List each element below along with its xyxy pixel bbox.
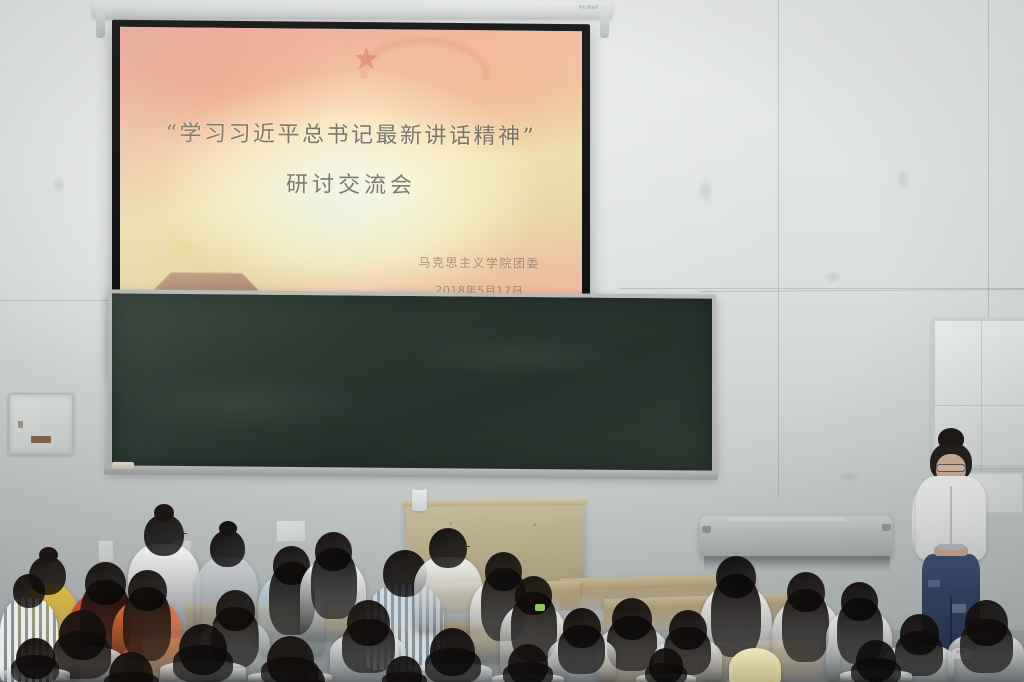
student-left-back-b [92,652,170,682]
head [128,570,167,611]
head [290,664,325,682]
lectern-mark [534,524,536,526]
blackboard[interactable] [108,289,716,476]
student-mid-back-b [492,644,564,682]
screen-bracket-right [600,12,609,38]
slide-subtitle: 研讨交流会 [286,166,416,199]
screen-brand-label: ProNed [579,5,598,11]
head [965,600,1008,646]
head [716,556,756,598]
student-tiny-a [636,648,696,682]
head [16,638,55,679]
head [515,576,552,615]
glasses-icon [165,533,187,536]
student-cap-yellow [716,648,792,682]
wall-seam [778,0,779,498]
hair-bun [219,521,237,536]
head [13,574,45,608]
lectern-mark [450,522,452,524]
head [841,582,878,621]
wall-mark [698,178,714,204]
wall-mark [52,176,66,194]
head [508,644,548,682]
head [612,598,652,640]
cabinet-lid [726,518,846,524]
projector-screen-case[interactable]: ProNed [92,2,612,18]
blouse-placket [950,486,952,552]
wall-mark [838,472,860,482]
head [563,608,601,648]
chalk-dust [112,293,712,472]
student-tiny-b [372,656,436,682]
hair-clip [535,604,545,611]
head [386,656,422,682]
head [430,628,475,676]
electrical-panel[interactable] [8,393,74,455]
head [669,610,707,650]
head [109,652,153,682]
student-tiny-c [276,664,338,682]
glasses-icon [936,464,966,472]
panel-hinge [18,421,23,428]
water-bottle[interactable] [412,489,427,511]
head [347,600,390,646]
wall-seam [988,0,989,320]
equipment-cabinet[interactable] [700,516,892,558]
board-seam [935,405,1024,406]
hair-bun [154,504,174,522]
head [856,640,896,682]
head [179,624,227,675]
wall-mark [824,270,842,284]
bottle-cap [415,485,424,490]
head [787,572,825,612]
student-left-back-a [0,638,70,682]
head [315,532,352,571]
student-white-right [840,640,912,682]
cabinet-knob[interactable] [702,526,711,533]
head [649,648,683,682]
cap-icon [729,648,781,682]
wall-seam [0,300,110,301]
hair-bun [39,547,58,563]
panel-label-plate [31,436,51,443]
student-front-c1 [160,624,246,682]
student-right-g [948,600,1024,682]
screen-bracket-left [96,12,105,38]
wall-mark [896,168,910,190]
glasses-icon [449,546,470,549]
chalk-piece[interactable] [112,462,134,469]
cabinet-knob[interactable] [882,524,891,531]
classroom-photo: ProNed “学习习近平总书记最新讲话精神” 研讨交流会 [0,0,1024,682]
phone-icon[interactable] [938,544,964,550]
light-switch-plate[interactable] [98,540,114,562]
slide-title: “学习习近平总书记最新讲话精神” [166,115,537,151]
jeans-distress [928,580,940,587]
slide-organization: 马克思主义学院团委 [418,254,540,272]
